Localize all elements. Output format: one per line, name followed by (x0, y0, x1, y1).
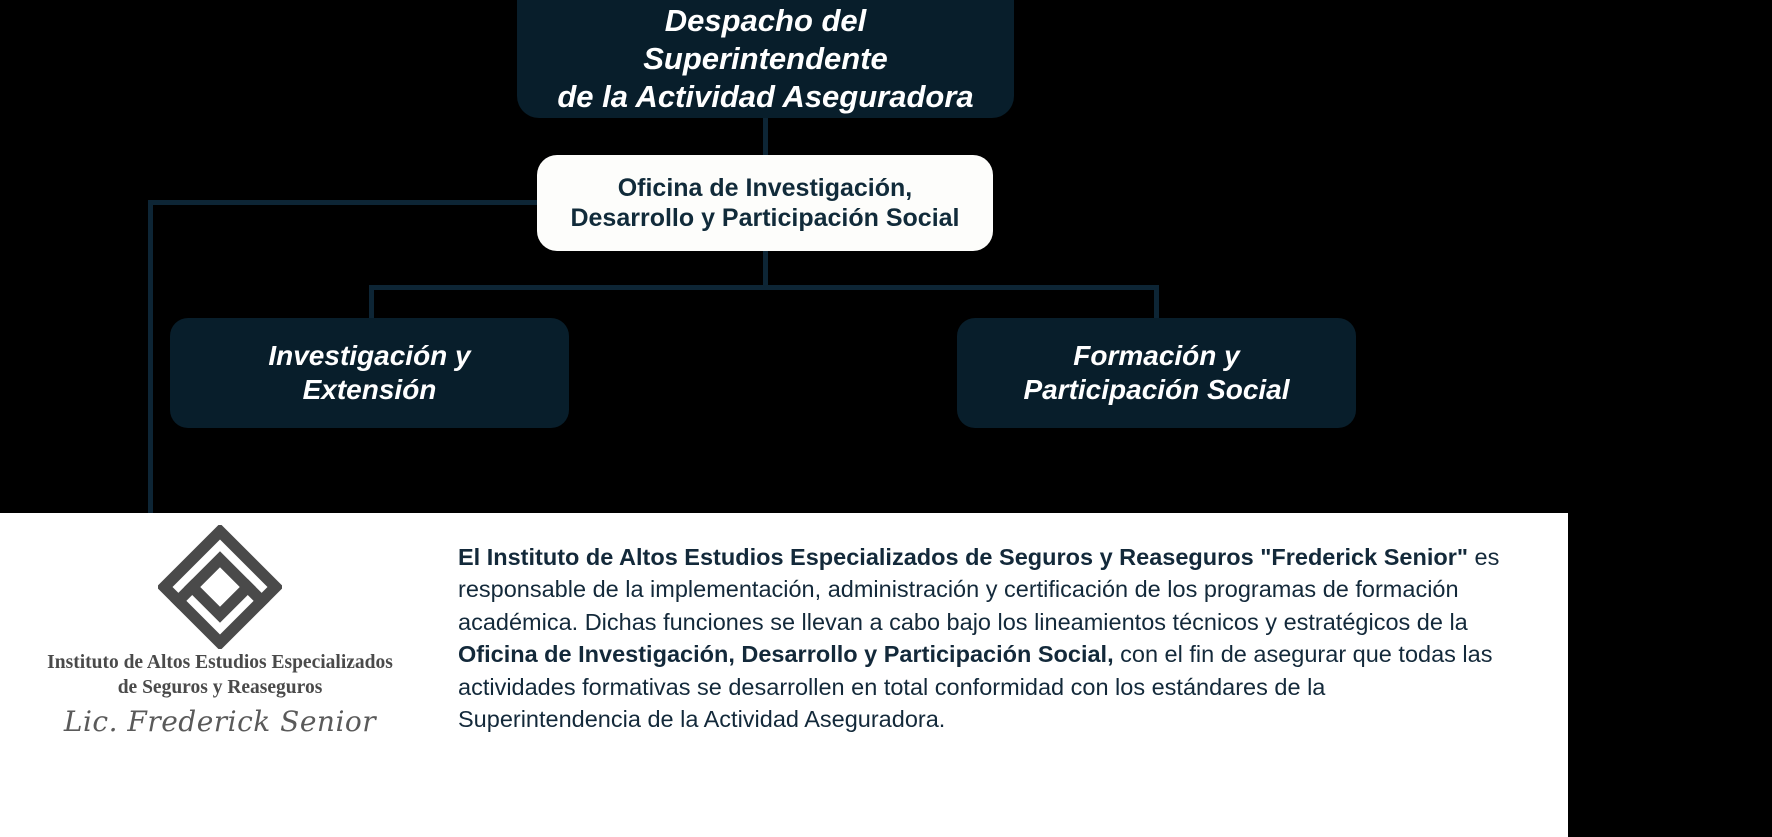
connector-bus-to-formacion (1154, 285, 1159, 321)
node-despacho-superintendente[interactable]: Despacho del Superintendentede la Activi… (517, 0, 1014, 118)
footer-paragraph-bold-lead: El Instituto de Altos Estudios Especiali… (458, 544, 1468, 570)
connector-office-to-bus (763, 251, 768, 285)
node-office-line2: Desarrollo y Participación Social (556, 203, 973, 234)
node-investigacion-text: Investigación y Extensión (170, 339, 569, 407)
connector-root-to-office (763, 118, 768, 158)
connector-long-vertical-to-footer (148, 200, 153, 515)
institute-signature: Lic. Frederick Senior (64, 705, 376, 738)
node-formacion-line1: Formación y (1009, 339, 1303, 373)
node-office-line1: Oficina de Investigación, (556, 173, 973, 204)
node-investigacion-line1: Investigación y Extensión (184, 339, 555, 407)
institute-logo-block: Instituto de Altos Estudios Especializad… (0, 513, 440, 738)
footer-paragraph-bold-mid: Oficina de Investigación, Desarrollo y P… (458, 641, 1114, 667)
node-formacion-line2: Participación Social (1009, 373, 1303, 407)
node-formacion-text: Formación yParticipación Social (995, 339, 1317, 407)
node-formacion-participacion-social[interactable]: Formación yParticipación Social (957, 318, 1356, 428)
footer-right-filler (1568, 513, 1772, 837)
institute-name-line2: de Seguros y Reaseguros (47, 676, 393, 701)
connector-bus-to-investigacion (369, 285, 374, 321)
organization-chart: Despacho del Superintendentede la Activi… (0, 0, 1772, 837)
node-root-line2: de la Actividad Aseguradora (531, 78, 1000, 116)
node-root-text: Despacho del Superintendentede la Activi… (517, 2, 1014, 115)
footer-panel: Instituto de Altos Estudios Especializad… (0, 513, 1568, 837)
node-oficina-investigacion[interactable]: Oficina de Investigación,Desarrollo y Pa… (537, 155, 993, 251)
node-office-text: Oficina de Investigación,Desarrollo y Pa… (542, 173, 987, 234)
institute-name: Instituto de Altos Estudios Especializad… (47, 651, 393, 701)
node-root-line1: Despacho del Superintendente (531, 2, 1000, 78)
diamond-monogram-icon (158, 525, 282, 649)
footer-paragraph: El Instituto de Altos Estudios Especiali… (440, 513, 1568, 736)
institute-name-line1: Instituto de Altos Estudios Especializad… (47, 651, 393, 676)
connector-horizontal-bus (369, 285, 1159, 290)
node-investigacion-extension[interactable]: Investigación y Extensión (170, 318, 569, 428)
